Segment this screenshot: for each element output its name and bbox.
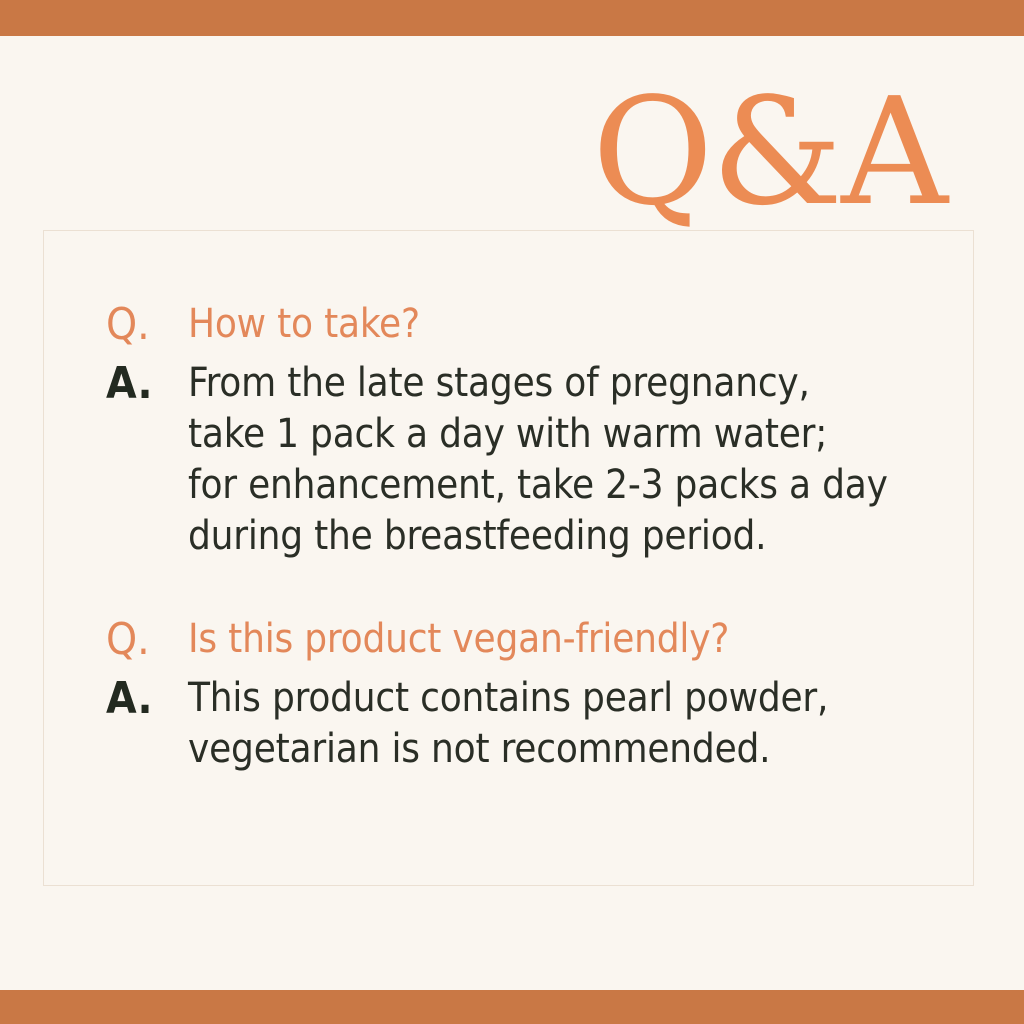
answer-line: during the breastfeeding period. [188, 511, 933, 562]
question-row: Q. How to take? [106, 299, 933, 350]
question-marker: Q. [106, 614, 188, 665]
answer-line: for enhancement, take 2-3 packs a day [188, 460, 933, 511]
answer-marker: A. [106, 358, 188, 409]
question-row: Q. Is this product vegan-friendly? [106, 614, 933, 665]
qa-list: Q. How to take? A. From the late stages … [106, 299, 933, 775]
qa-block: Q. How to take? A. From the late stages … [106, 299, 933, 562]
answer-line: From the late stages of pregnancy, [188, 358, 933, 409]
answer-line: This product contains pearl powder, [188, 673, 933, 724]
bottom-accent-bar [0, 990, 1024, 1024]
answer-text: This product contains pearl powder, vege… [188, 673, 933, 775]
answer-line: take 1 pack a day with warm water; [188, 409, 933, 460]
qa-panel: Q. How to take? A. From the late stages … [43, 230, 974, 886]
top-accent-bar [0, 0, 1024, 36]
answer-marker: A. [106, 673, 188, 724]
page-title: Q&A [592, 78, 946, 226]
question-text: Is this product vegan-friendly? [188, 614, 933, 665]
answer-row: A. From the late stages of pregnancy, ta… [106, 358, 933, 562]
question-marker: Q. [106, 299, 188, 350]
qa-block: Q. Is this product vegan-friendly? A. Th… [106, 614, 933, 775]
answer-line: vegetarian is not recommended. [188, 724, 933, 775]
answer-text: From the late stages of pregnancy, take … [188, 358, 933, 562]
question-text: How to take? [188, 299, 933, 350]
answer-row: A. This product contains pearl powder, v… [106, 673, 933, 775]
